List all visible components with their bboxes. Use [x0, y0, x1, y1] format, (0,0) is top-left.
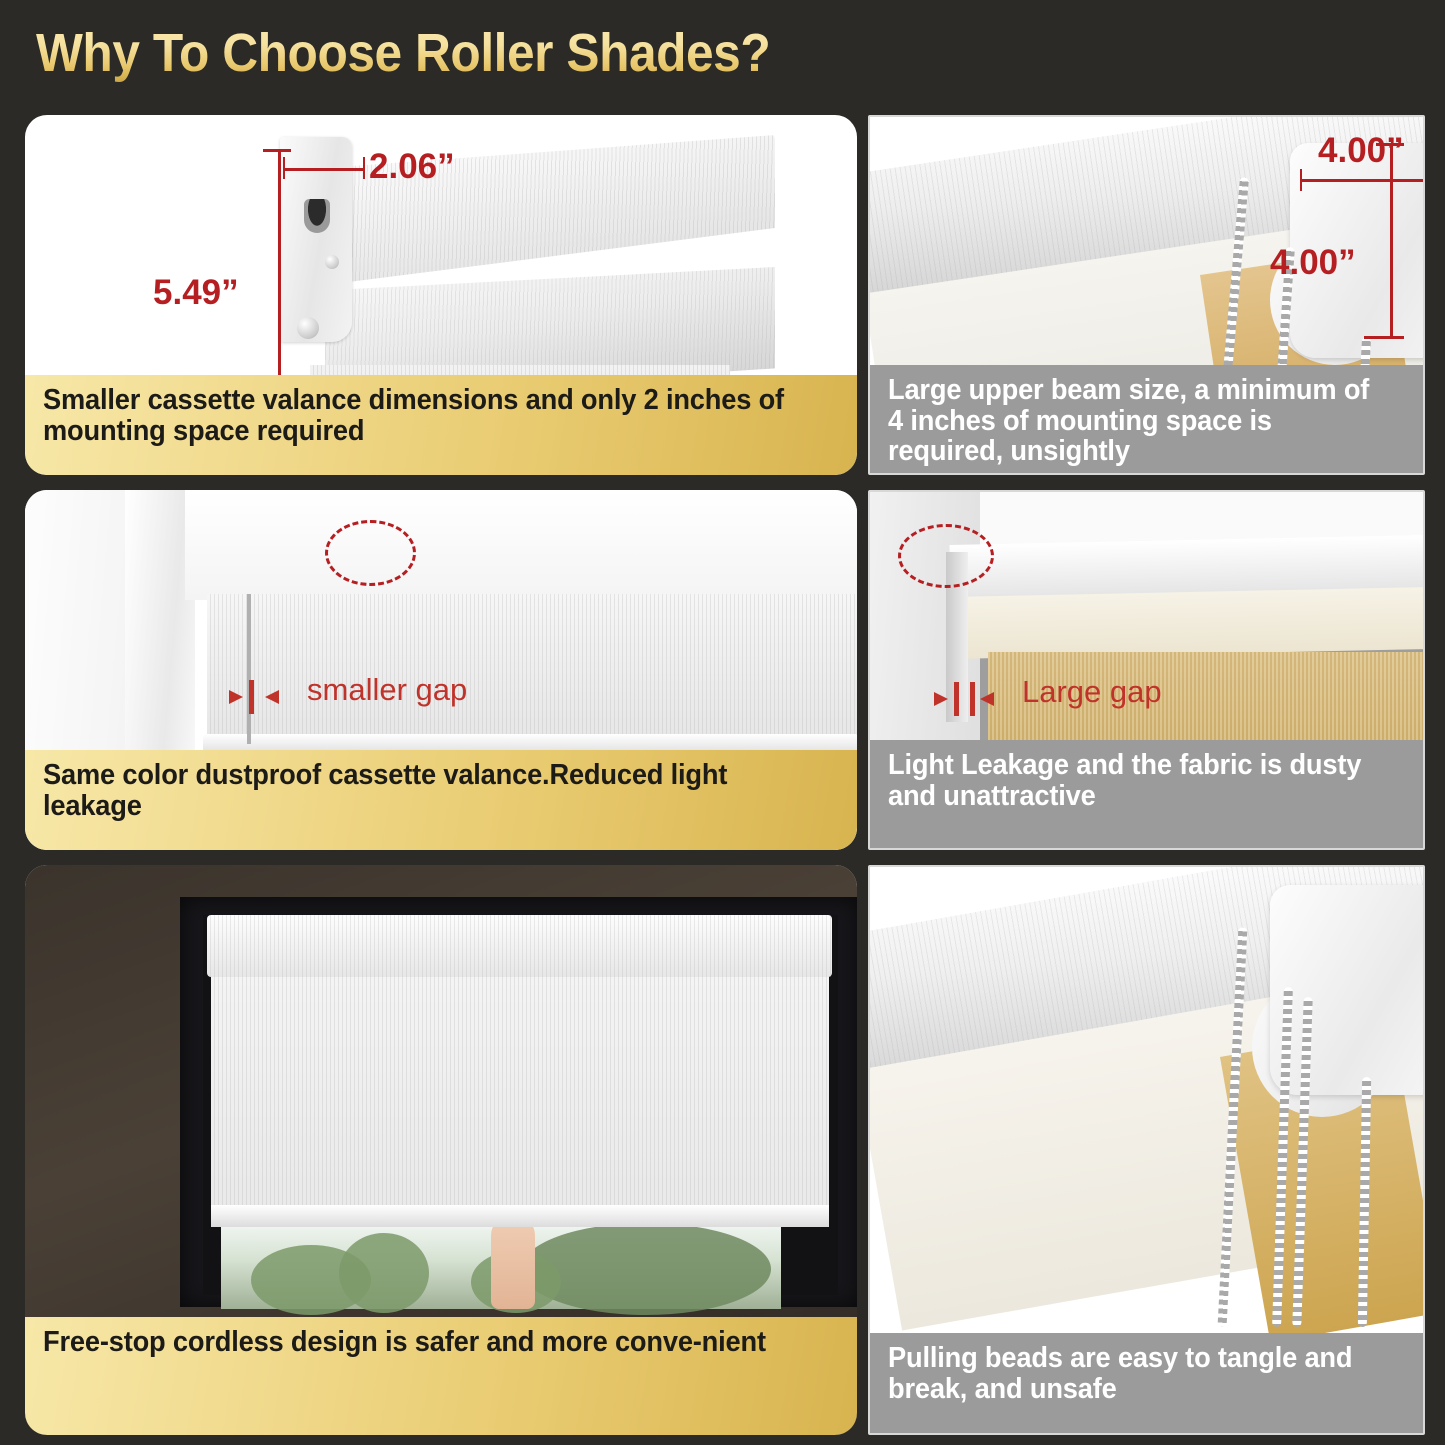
panel-caption-bar: Smaller cassette valance dimensions and … [25, 375, 857, 475]
roller-bracket-plate [1270, 885, 1423, 1095]
dimension-width-label: 2.06” [369, 147, 455, 187]
dim-h-tick-top [1376, 143, 1404, 146]
page-title: Why To Choose Roller Shades? [36, 22, 770, 84]
gap-label-smaller: smaller gap [307, 672, 467, 708]
infographic-page: Why To Choose Roller Shades? 2.06” [0, 0, 1445, 1445]
panel-light-leakage: Large gap Light Leakage and the fabric i… [868, 490, 1425, 850]
panel-caption-bar: Large upper beam size, a minimum of 4 in… [870, 365, 1423, 473]
dimension-height-label: 4.00” [1270, 243, 1356, 283]
panel-caption-text: Free-stop cordless design is safer and m… [43, 1327, 791, 1358]
dim-w-line [1300, 179, 1423, 182]
panel-caption-bar: Same color dustproof cassette valance.Re… [25, 750, 857, 850]
bracket-screw-icon [297, 317, 319, 339]
dim-h-line [1390, 143, 1393, 339]
panel-caption-text: Pulling beads are easy to tangle and bre… [888, 1343, 1374, 1404]
panel-caption-text: Smaller cassette valance dimensions and … [43, 385, 791, 446]
highlight-circle-icon [325, 520, 416, 586]
hand-pulling-shade [491, 1217, 535, 1309]
gap-label-large: Large gap [1022, 674, 1162, 710]
shade-fabric-upper [207, 594, 857, 742]
dim-height-tick-top [263, 149, 291, 152]
dim-h-tick-bottom [1364, 336, 1404, 339]
panel-caption-text: Large upper beam size, a minimum of 4 in… [888, 375, 1374, 467]
gap-arrow-right-icon [265, 686, 301, 708]
panel-pulling-beads: Pulling beads are easy to tangle and bre… [868, 865, 1425, 1435]
dimension-height-label: 5.49” [153, 273, 239, 313]
gap-marker-line [249, 680, 254, 714]
tree-foliage [339, 1233, 429, 1313]
panel-caption-bar: Pulling beads are easy to tangle and bre… [870, 1333, 1423, 1433]
panel-smaller-cassette: 2.06” 5.49” Smaller cassette valance dim… [25, 115, 857, 475]
gap-arrow-right-icon [980, 688, 1016, 710]
valance-header [185, 490, 857, 600]
tree-foliage [521, 1223, 771, 1315]
shade-fabric [211, 973, 829, 1211]
gap-edge [247, 594, 251, 744]
panel-caption-text: Light Leakage and the fabric is dusty an… [888, 750, 1374, 811]
panel-large-upper-beam: 4.00” 4.00” Large upper beam size, a min… [868, 115, 1425, 475]
panel-caption-bar: Light Leakage and the fabric is dusty an… [870, 740, 1423, 848]
gap-marker-line-2 [970, 682, 975, 716]
panel-grid: 2.06” 5.49” Smaller cassette valance dim… [0, 108, 1445, 1443]
gap-arrow-left-icon [207, 686, 243, 708]
bracket-screw-small-icon [325, 255, 339, 269]
cassette-valance [207, 915, 832, 977]
panel-dustproof-valance: smaller gap Same color dustproof cassett… [25, 490, 857, 850]
highlight-circle-icon [898, 524, 994, 588]
roller-fabric-cream [949, 587, 1423, 659]
panel-caption-text: Same color dustproof cassette valance.Re… [43, 760, 791, 821]
gap-marker-line-1 [954, 682, 959, 716]
panel-caption-bar: Free-stop cordless design is safer and m… [25, 1317, 857, 1435]
gap-arrow-left-icon [912, 688, 948, 710]
shade-hem-bar [211, 1205, 829, 1227]
panel-cordless-design: Free-stop cordless design is safer and m… [25, 865, 857, 1435]
dim-width-line [283, 168, 365, 171]
